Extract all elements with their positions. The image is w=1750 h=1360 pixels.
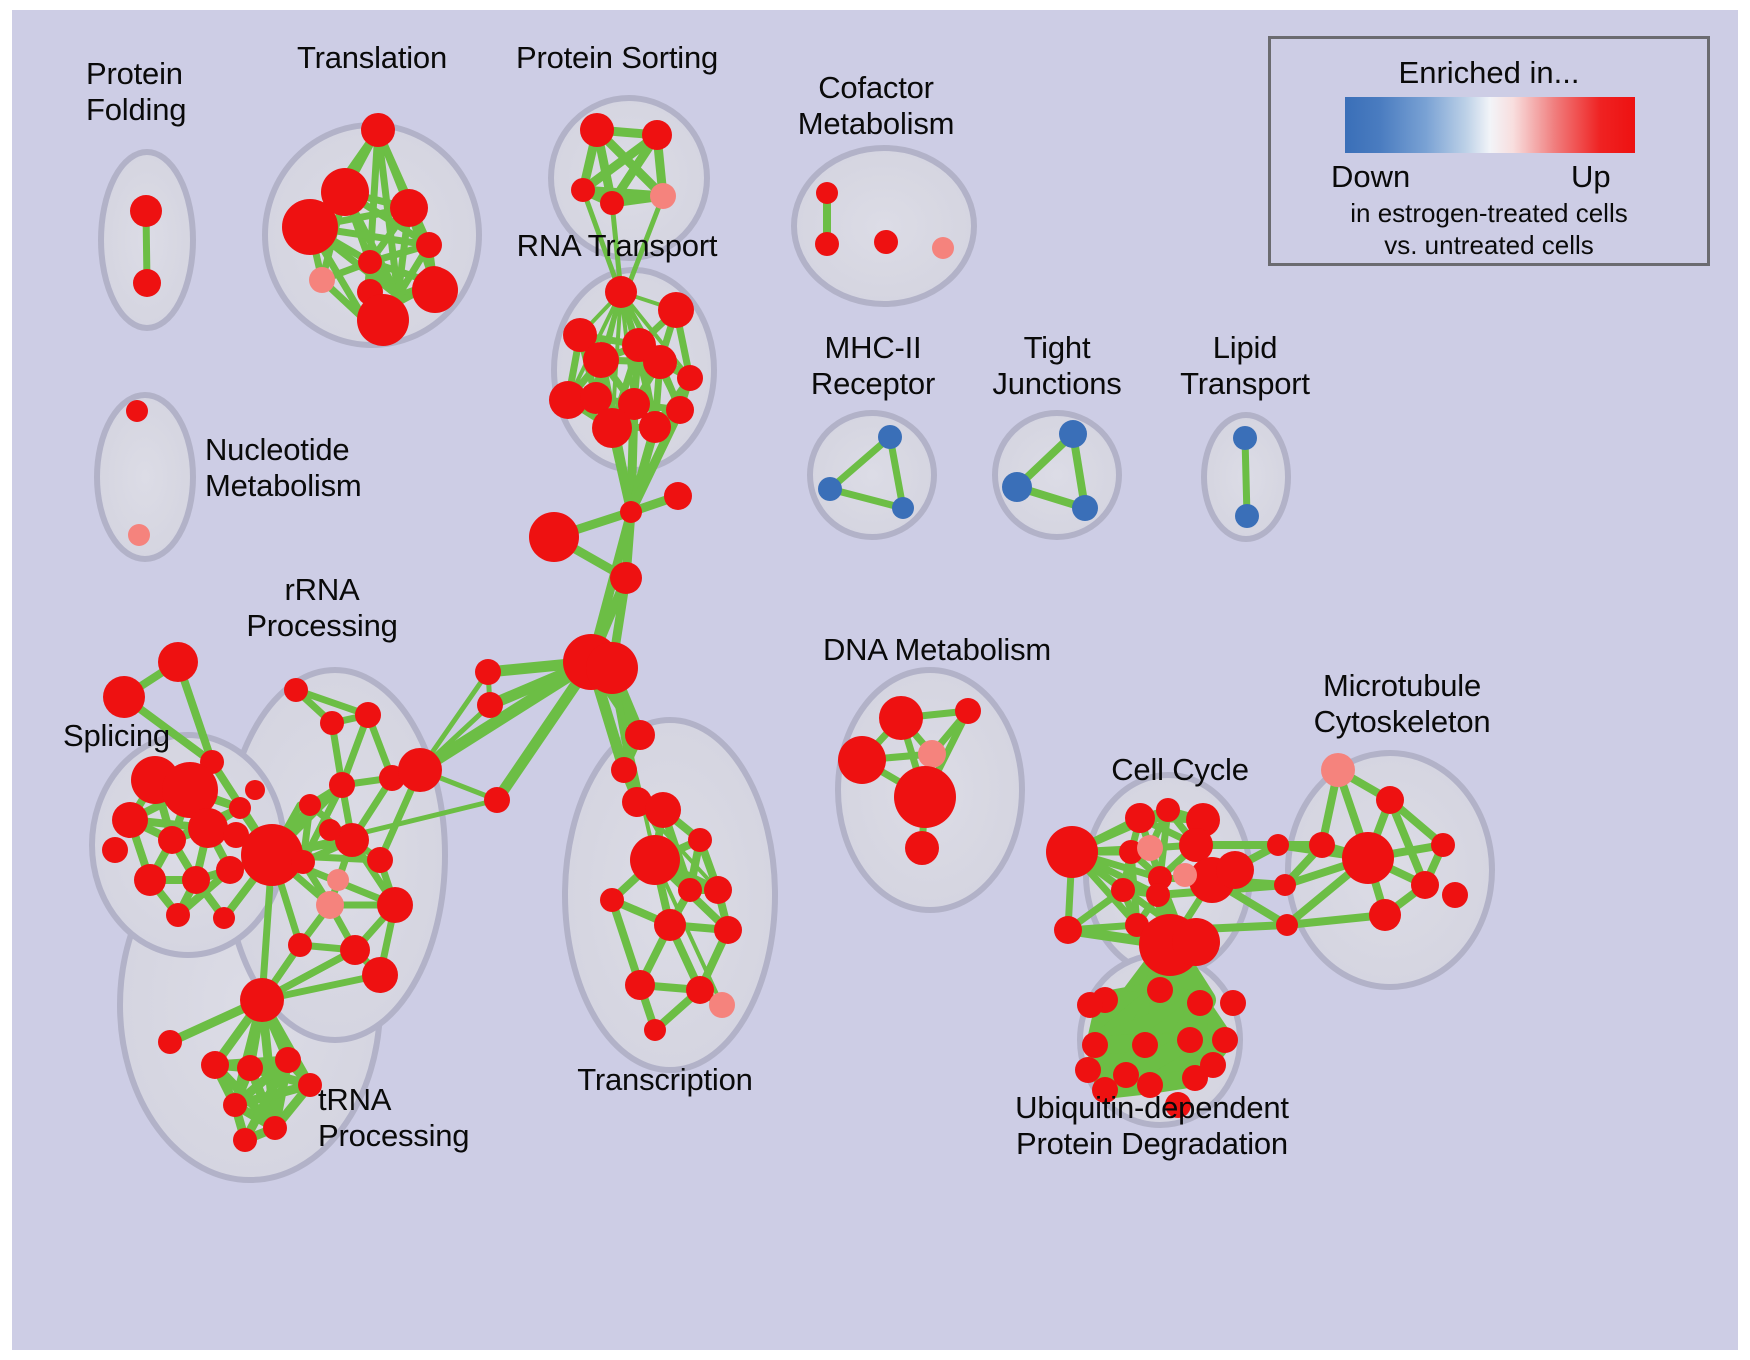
cluster-label-protein-folding: Protein Folding — [86, 56, 186, 128]
cluster-label-trna-processing: tRNA Processing — [318, 1082, 469, 1154]
cluster-label-cell-cycle: Cell Cycle — [1111, 752, 1249, 788]
legend-down-label: Down — [1331, 159, 1410, 195]
cluster-label-transcription: Transcription — [577, 1062, 752, 1098]
cluster-label-microtubule: Microtubule Cytoskeleton — [1314, 668, 1491, 740]
cluster-label-translation: Translation — [297, 40, 447, 76]
cluster-label-dna-metabolism: DNA Metabolism — [823, 632, 1051, 668]
cluster-label-splicing: Splicing — [63, 718, 170, 754]
cluster-label-mhc-ii-receptor: MHC-II Receptor — [811, 330, 935, 402]
legend-subtitle: in estrogen-treated cells vs. untreated … — [1271, 197, 1707, 261]
cluster-label-cofactor-metabolism: Cofactor Metabolism — [798, 70, 955, 142]
legend-color-gradient-bar — [1345, 97, 1635, 153]
hull-cofactor-metabolism — [794, 148, 974, 304]
legend-title: Enriched in... — [1271, 55, 1707, 91]
cluster-label-rna-transport: RNA Transport — [517, 228, 718, 264]
legend-panel: Enriched in... Down Up in estrogen-treat… — [1268, 36, 1710, 266]
cluster-label-ubiquitin: Ubiquitin-dependent Protein Degradation — [1015, 1090, 1289, 1162]
legend-up-label: Up — [1571, 159, 1611, 195]
figure-canvas: Protein Folding Translation Protein Sort… — [0, 0, 1750, 1360]
cluster-label-rrna-processing: rRNA Processing — [246, 572, 397, 644]
cluster-label-protein-sorting: Protein Sorting — [516, 40, 718, 76]
cluster-label-tight-junctions: Tight Junctions — [992, 330, 1121, 402]
hull-mhc-ii-receptor — [810, 413, 934, 537]
cluster-label-nucleotide-metabolism: Nucleotide Metabolism — [205, 432, 362, 504]
cluster-label-lipid-transport: Lipid Transport — [1180, 330, 1310, 402]
